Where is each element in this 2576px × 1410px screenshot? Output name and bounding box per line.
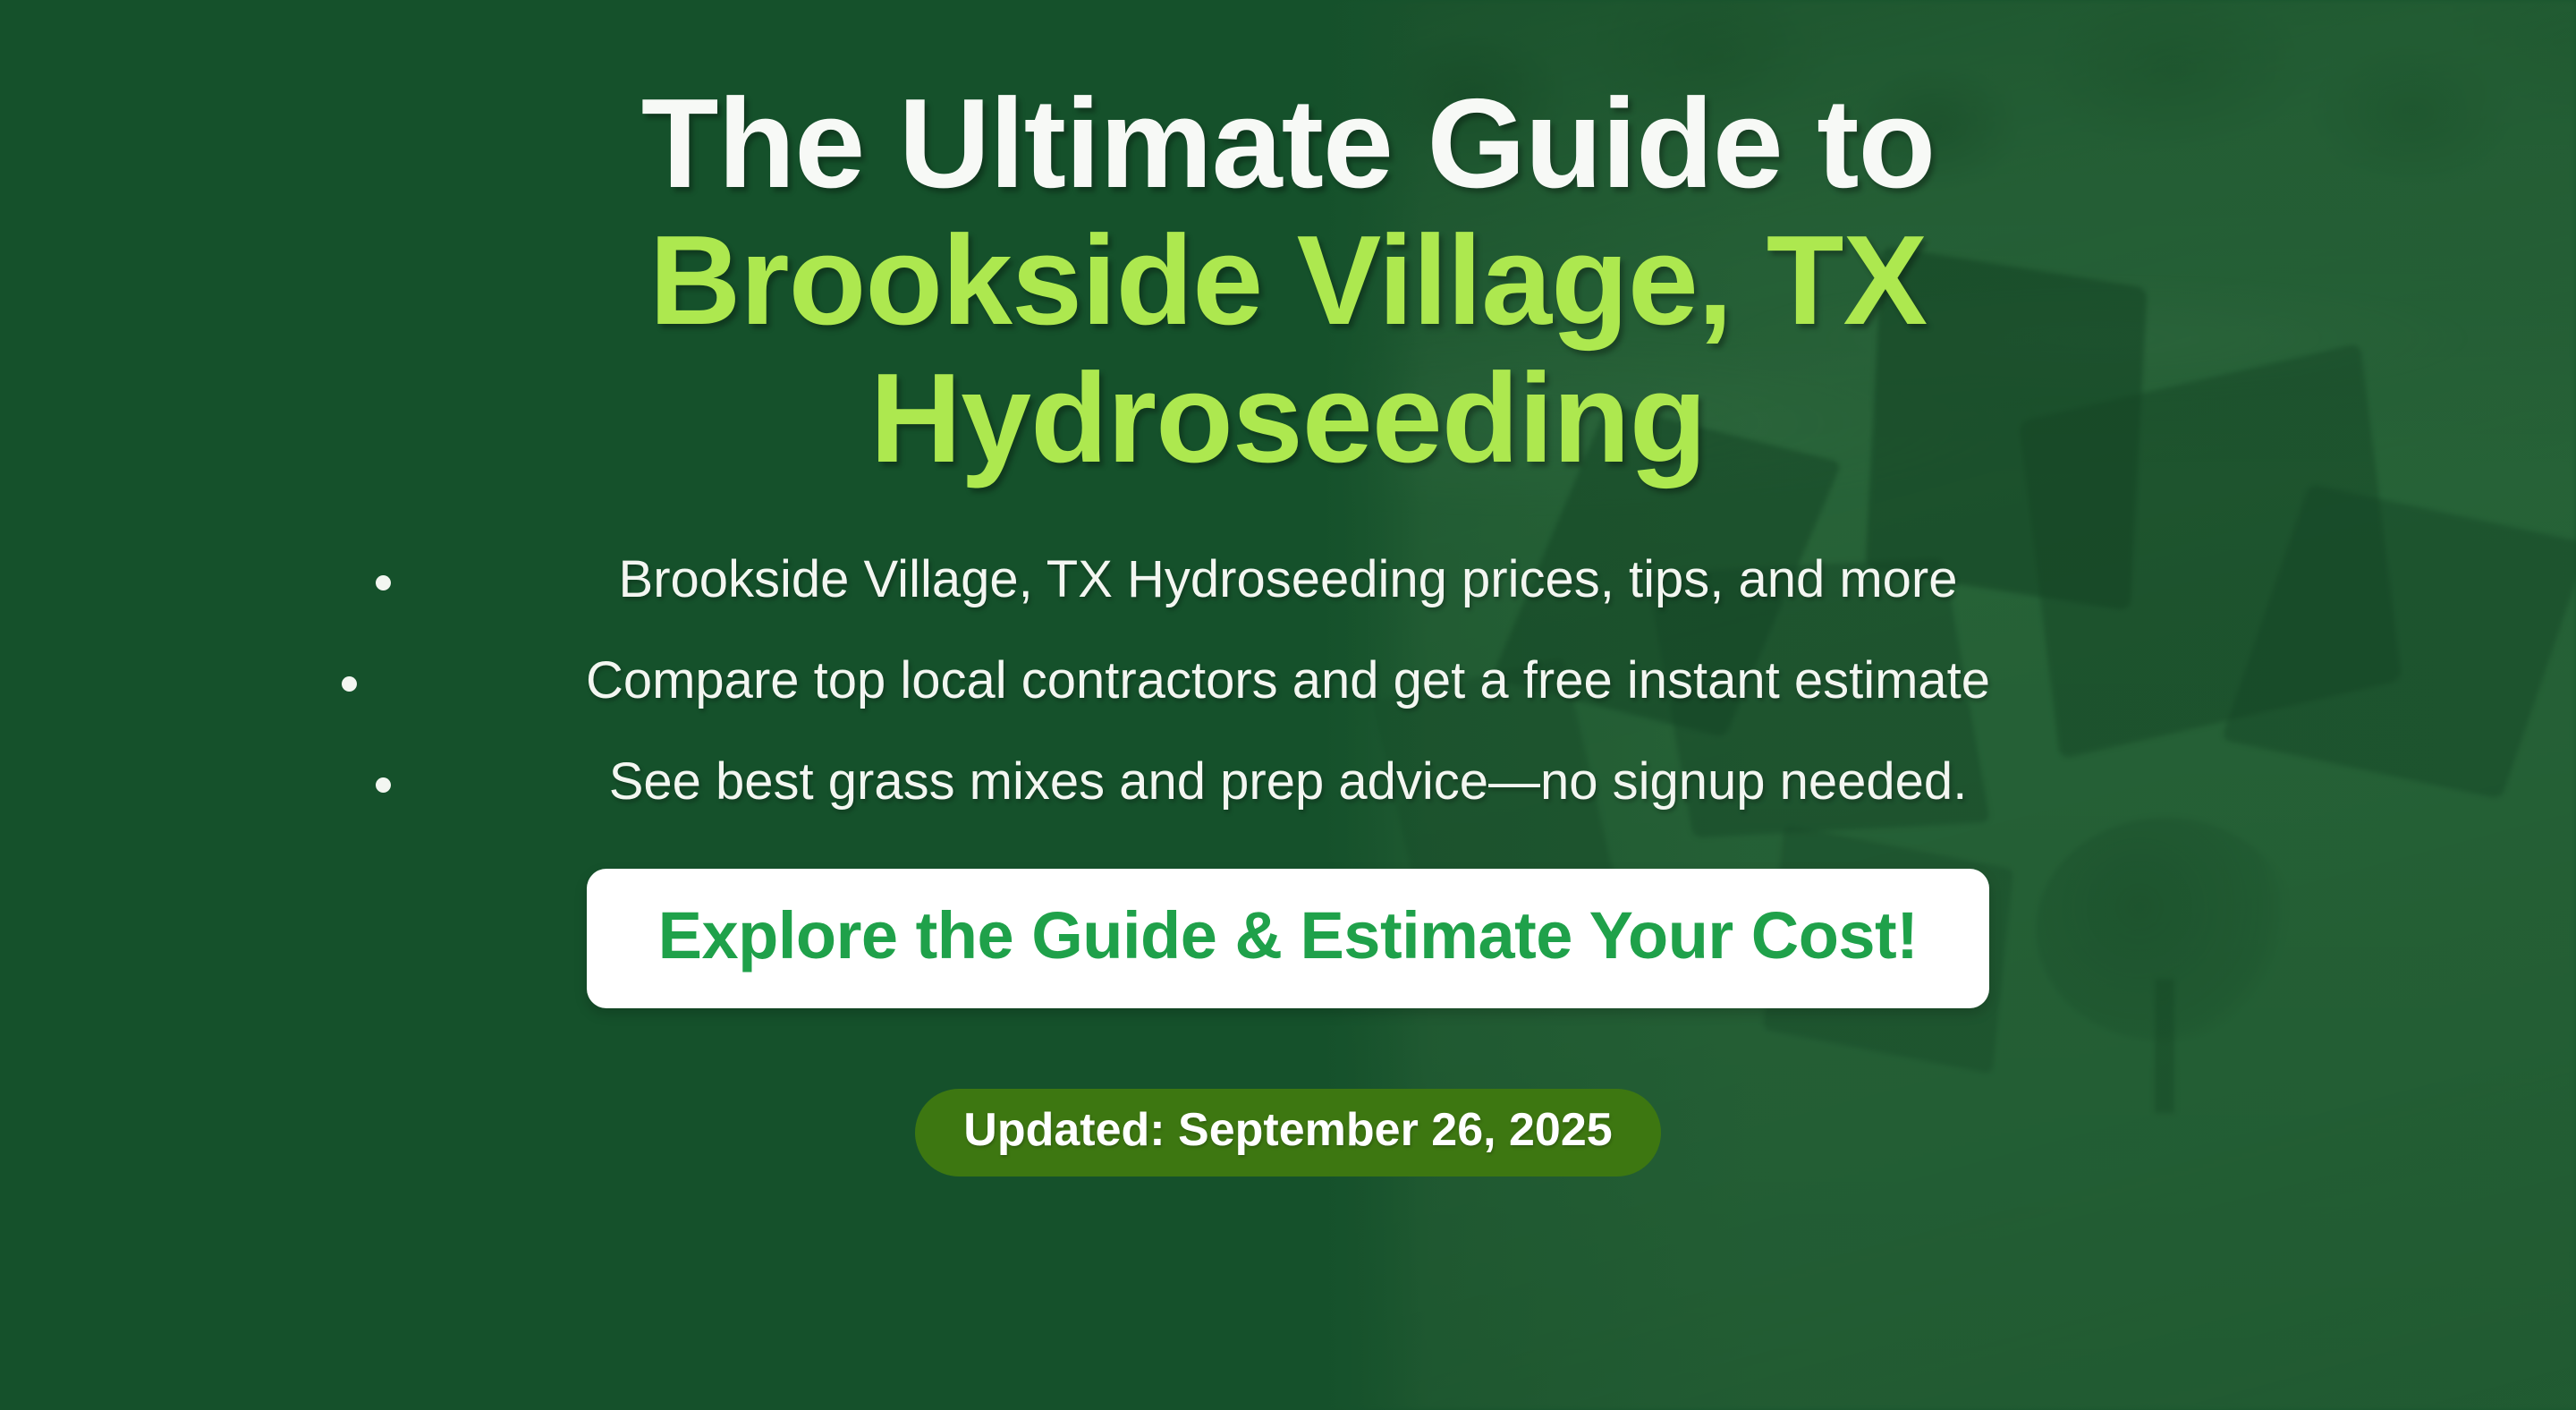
- hero-banner: The Ultimate Guide to Brookside Village,…: [0, 0, 2576, 1410]
- updated-date-badge: Updated: September 26, 2025: [915, 1089, 1660, 1176]
- headline-line-2: Brookside Village, TX Hydroseeding: [358, 212, 2218, 487]
- list-item: Brookside Village, TX Hydroseeding price…: [349, 551, 2227, 609]
- page-title: The Ultimate Guide to Brookside Village,…: [358, 75, 2218, 487]
- list-item: Compare top local contractors and get a …: [349, 652, 2227, 710]
- benefits-list: Brookside Village, TX Hydroseeding price…: [349, 551, 2227, 811]
- hero-content: The Ultimate Guide to Brookside Village,…: [0, 0, 2576, 1410]
- bullet-dot-icon: [376, 777, 391, 793]
- list-item: See best grass mixes and prep advice—no …: [349, 753, 2227, 811]
- bullet-dot-icon: [376, 575, 391, 590]
- explore-guide-cta-button[interactable]: Explore the Guide & Estimate Your Cost!: [587, 869, 1990, 1008]
- list-item-label: See best grass mixes and prep advice—no …: [609, 752, 1968, 811]
- headline-line-1: The Ultimate Guide to: [358, 75, 2218, 212]
- list-item-label: Brookside Village, TX Hydroseeding price…: [619, 550, 1958, 608]
- bullet-dot-icon: [342, 676, 357, 692]
- list-item-label: Compare top local contractors and get a …: [586, 651, 1990, 709]
